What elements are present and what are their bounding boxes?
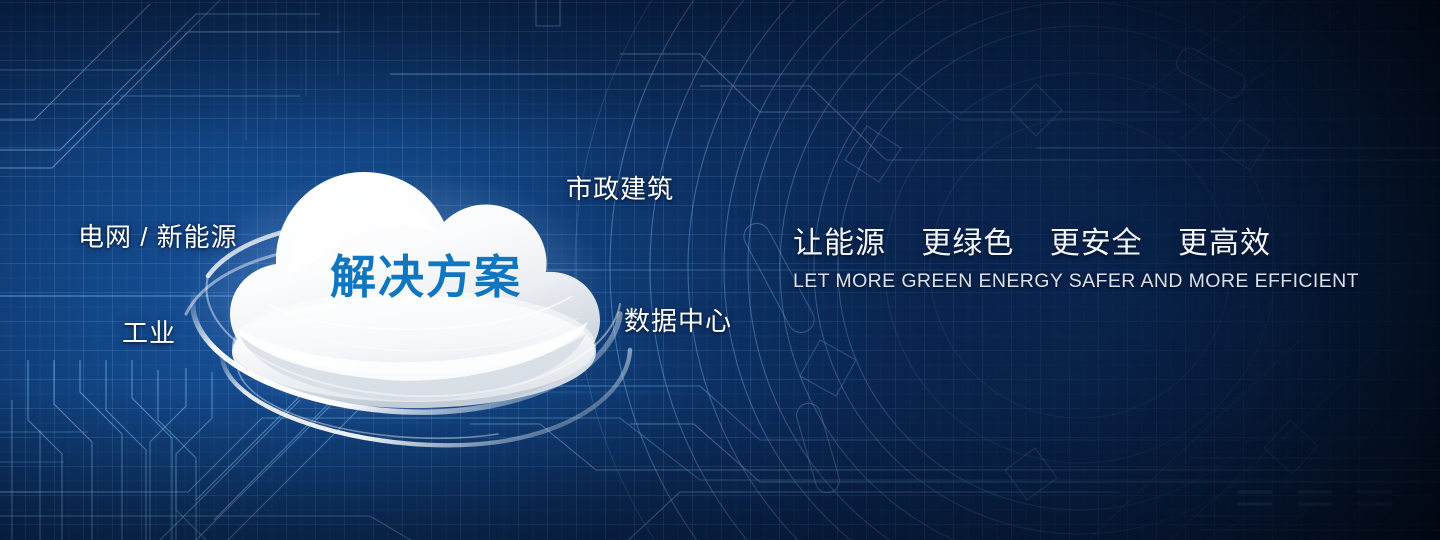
tagline-part-1: 让能源 [793,227,886,260]
node-label-civic-building: 市政建筑 [566,176,674,202]
page-title: 解决方案 [330,254,522,300]
solution-hero-banner: 解决方案 电网 / 新能源 工业 市政建筑 数据中心 让能源 更绿色 更安全 更… [0,0,1440,540]
node-label-grid-new-energy: 电网 / 新能源 [78,224,238,250]
tagline-part-4: 更高效 [1178,227,1271,260]
tagline-part-2: 更绿色 [921,227,1014,260]
node-label-industry: 工业 [122,320,176,346]
tagline-english: LET MORE GREEN ENERGY SAFER AND MORE EFF… [793,272,1359,292]
node-label-data-center: 数据中心 [624,308,732,334]
tagline-chinese: 让能源 更绿色 更安全 更高效 [793,229,1359,259]
tagline-part-3: 更安全 [1050,227,1143,260]
tagline-block: 让能源 更绿色 更安全 更高效 LET MORE GREEN ENERGY SA… [793,229,1359,292]
